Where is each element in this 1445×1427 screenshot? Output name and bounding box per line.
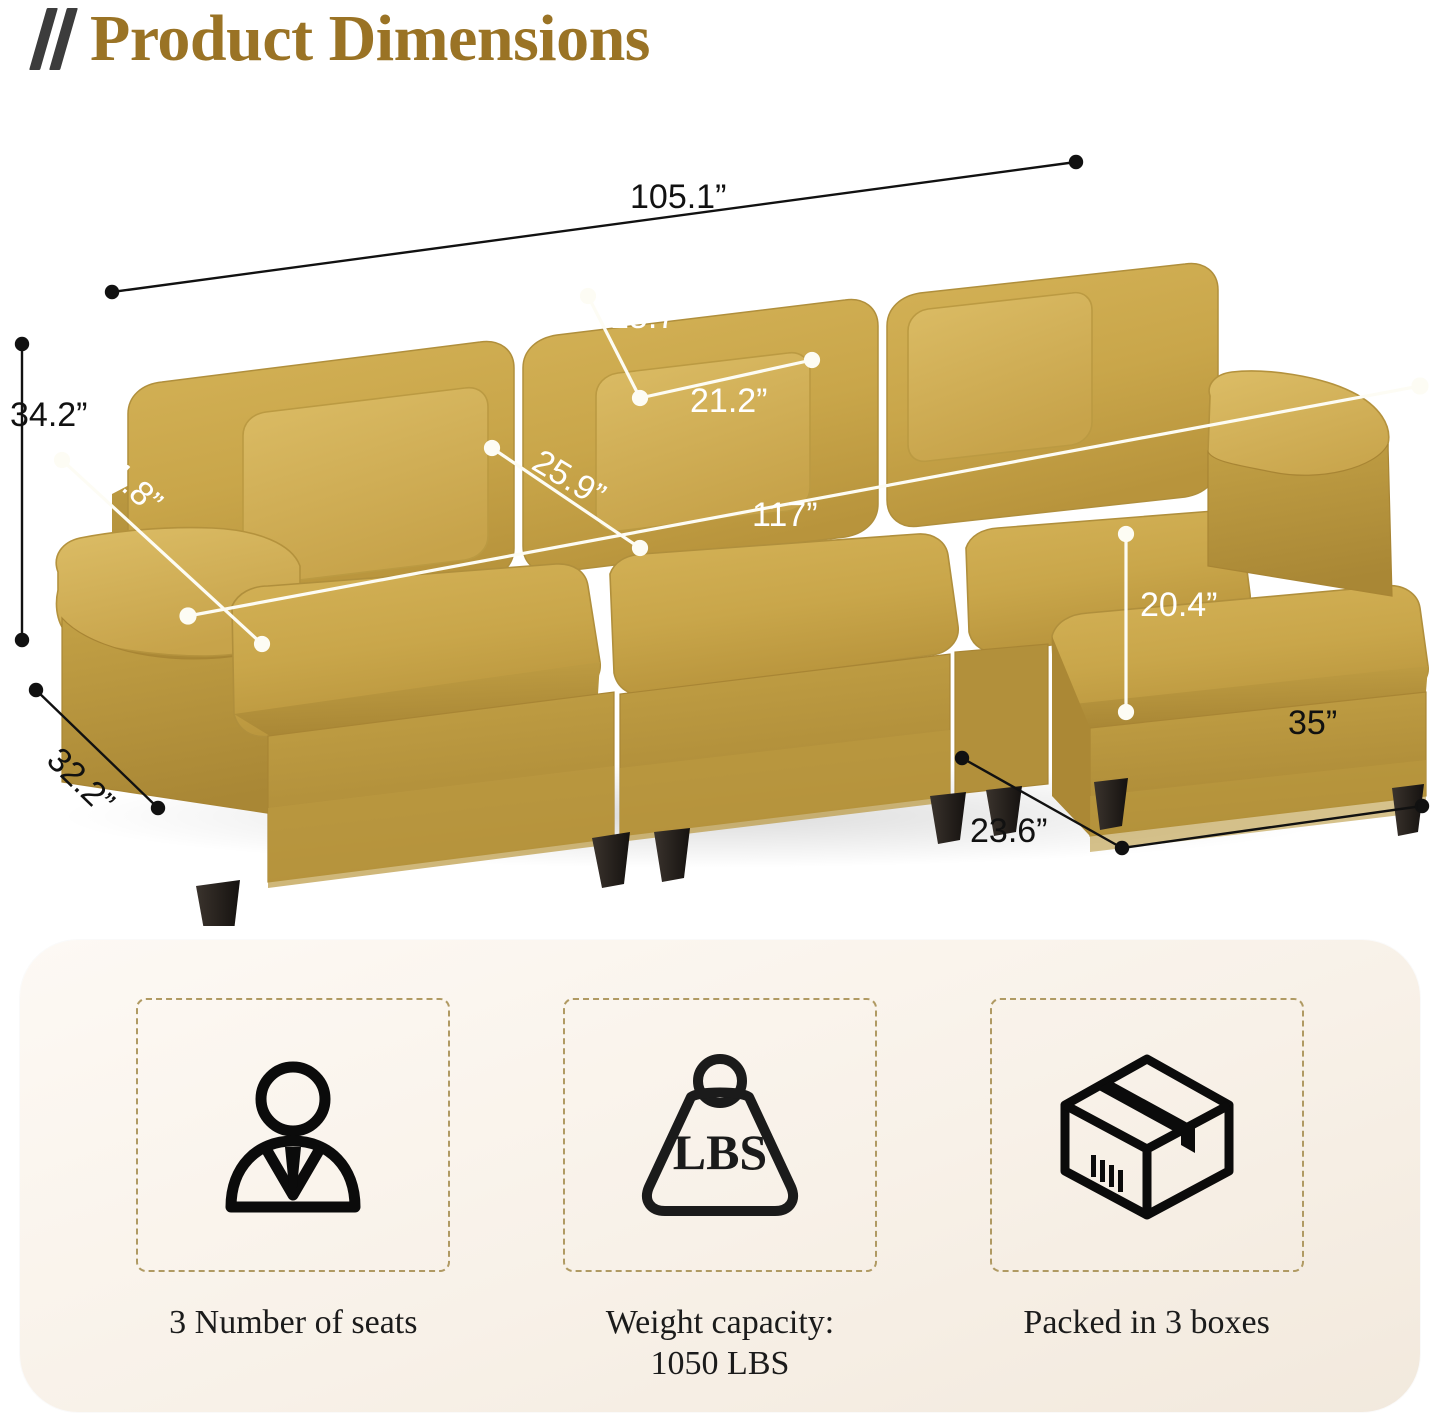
sofa-drawing: 105.1” 34.2” 32.2” 23.6” 35” — [0, 96, 1445, 926]
double-slash-icon — [28, 2, 84, 76]
label-chaise-width: 35” — [1288, 704, 1337, 742]
weight-icon-text: LBS — [673, 1124, 768, 1180]
weight-icon-box: LBS — [563, 998, 877, 1272]
label-overall-height: 34.2” — [10, 396, 88, 434]
info-cell-weight: LBS Weight capacity: 1050 LBS — [530, 998, 910, 1385]
label-seat-height: 20.4” — [1140, 586, 1218, 624]
boxes-icon-box — [990, 998, 1304, 1272]
product-dimensions-infographic: Product Dimensions — [0, 0, 1445, 1427]
weight-label: Weight capacity: 1050 LBS — [606, 1302, 835, 1385]
right-arm — [1208, 371, 1392, 596]
boxes-label: Packed in 3 boxes — [1023, 1302, 1269, 1343]
info-cell-seats: 3 Number of seats — [103, 998, 483, 1343]
seats-icon-box — [136, 998, 450, 1272]
weight-label-line2: 1050 LBS — [606, 1343, 835, 1384]
person-seat-icon — [205, 1055, 381, 1215]
label-overall-width: 105.1” — [630, 178, 726, 216]
package-box-icon — [1055, 1049, 1239, 1221]
weight-lbs-icon: LBS — [631, 1051, 809, 1219]
label-pillow-height: 15.7” — [610, 298, 688, 336]
label-pillow-width: 21.2” — [690, 382, 768, 420]
page-title-text: Product Dimensions — [90, 4, 650, 73]
page-title: Product Dimensions — [28, 2, 650, 76]
weight-label-line1: Weight capacity: — [606, 1302, 835, 1343]
label-seat-length: 117” — [752, 496, 818, 534]
info-cell-boxes: Packed in 3 boxes — [957, 998, 1337, 1343]
label-chaise-depth: 23.6” — [970, 812, 1048, 850]
product-info-panel: 3 Number of seats LBS Weight capacity: 1… — [20, 940, 1420, 1412]
sofa-dimension-illustration: 105.1” 34.2” 32.2” 23.6” 35” — [0, 96, 1445, 926]
seats-label: 3 Number of seats — [169, 1302, 417, 1343]
